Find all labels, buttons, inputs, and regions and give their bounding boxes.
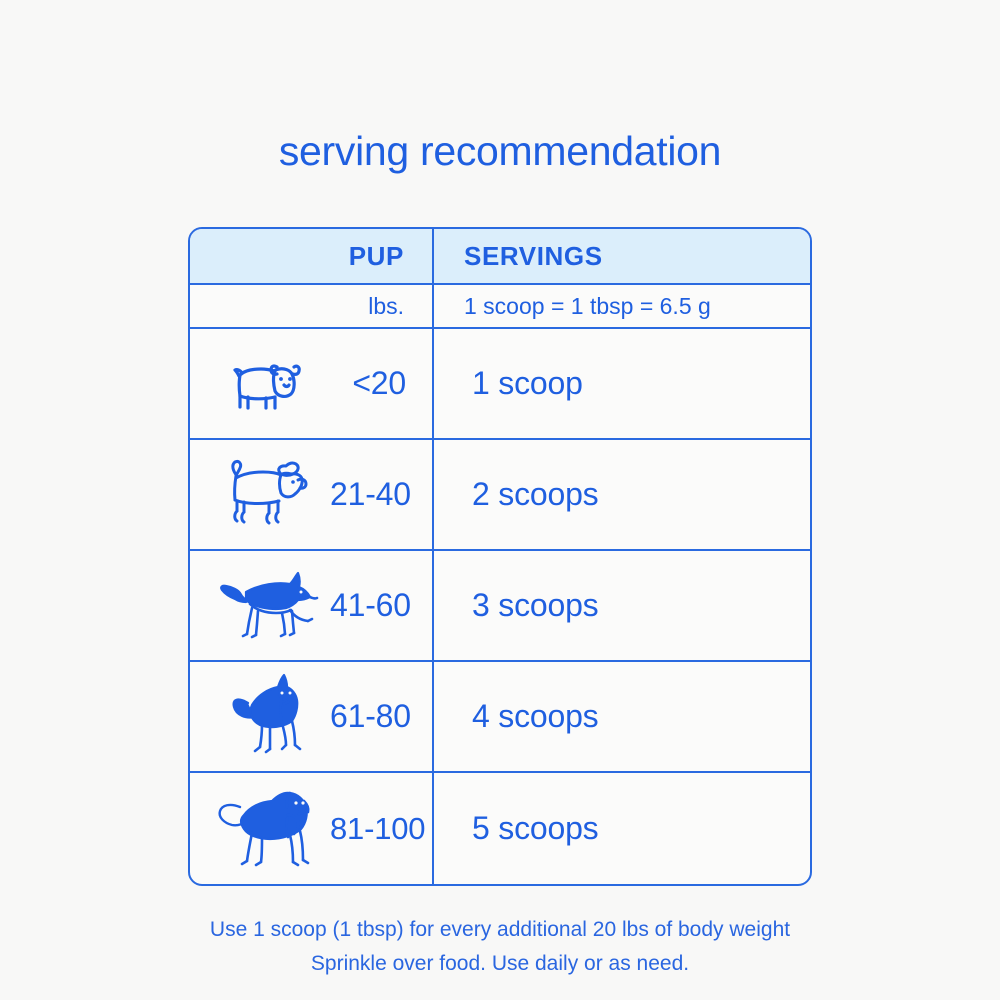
table-header-row: PUP SERVINGS <box>190 229 810 285</box>
servings-value: 3 scoops <box>434 587 598 624</box>
subheader-cell-unit: lbs. <box>190 285 434 327</box>
table-row: 81-100 5 scoops <box>190 773 810 884</box>
pup-cell: 21-40 <box>190 440 434 549</box>
footer-note: Use 1 scoop (1 tbsp) for every additiona… <box>0 913 1000 981</box>
poodle-icon <box>190 440 330 549</box>
pup-cell: <20 <box>190 329 434 438</box>
servings-cell: 1 scoop <box>434 329 810 438</box>
servings-value: 2 scoops <box>434 476 598 513</box>
table-subheader-row: lbs. 1 scoop = 1 tbsp = 6.5 g <box>190 285 810 329</box>
servings-cell: 2 scoops <box>434 440 810 549</box>
retriever-icon <box>190 773 330 884</box>
weight-range: 21-40 <box>330 476 437 513</box>
footer-line-2: Sprinkle over food. Use daily or as need… <box>0 947 1000 981</box>
weight-range: 81-100 <box>330 811 445 847</box>
german-shepherd-icon <box>190 551 330 660</box>
serving-table: PUP SERVINGS lbs. 1 scoop = 1 tbsp = 6.5… <box>188 227 812 886</box>
pup-cell: 61-80 <box>190 662 434 771</box>
servings-value: 1 scoop <box>434 365 583 402</box>
subheader-cell-equivalence: 1 scoop = 1 tbsp = 6.5 g <box>434 285 810 327</box>
header-cell-servings: SERVINGS <box>434 229 810 283</box>
servings-value: 5 scoops <box>434 810 598 847</box>
header-cell-pup: PUP <box>190 229 434 283</box>
table-row: 61-80 4 scoops <box>190 662 810 773</box>
page-title: serving recommendation <box>0 127 1000 176</box>
weight-range: <20 <box>330 365 432 402</box>
servings-cell: 3 scoops <box>434 551 810 660</box>
small-dog-icon <box>190 329 330 438</box>
scoop-equivalence-label: 1 scoop = 1 tbsp = 6.5 g <box>434 293 711 320</box>
pup-cell: 41-60 <box>190 551 434 660</box>
table-row: <20 1 scoop <box>190 329 810 440</box>
footer-line-1: Use 1 scoop (1 tbsp) for every additiona… <box>0 913 1000 947</box>
unit-label: lbs. <box>190 293 432 320</box>
header-label-pup: PUP <box>190 241 432 272</box>
table-row: 41-60 3 scoops <box>190 551 810 662</box>
table-row: 21-40 2 scoops <box>190 440 810 551</box>
pup-cell: 81-100 <box>190 773 434 884</box>
weight-range: 61-80 <box>330 698 437 735</box>
weight-range: 41-60 <box>330 587 437 624</box>
serving-recommendation-card: serving recommendation PUP SERVINGS lbs.… <box>0 0 1000 1000</box>
servings-value: 4 scoops <box>434 698 598 735</box>
servings-cell: 4 scoops <box>434 662 810 771</box>
servings-cell: 5 scoops <box>434 773 810 884</box>
header-label-servings: SERVINGS <box>434 241 603 272</box>
husky-icon <box>190 662 330 771</box>
